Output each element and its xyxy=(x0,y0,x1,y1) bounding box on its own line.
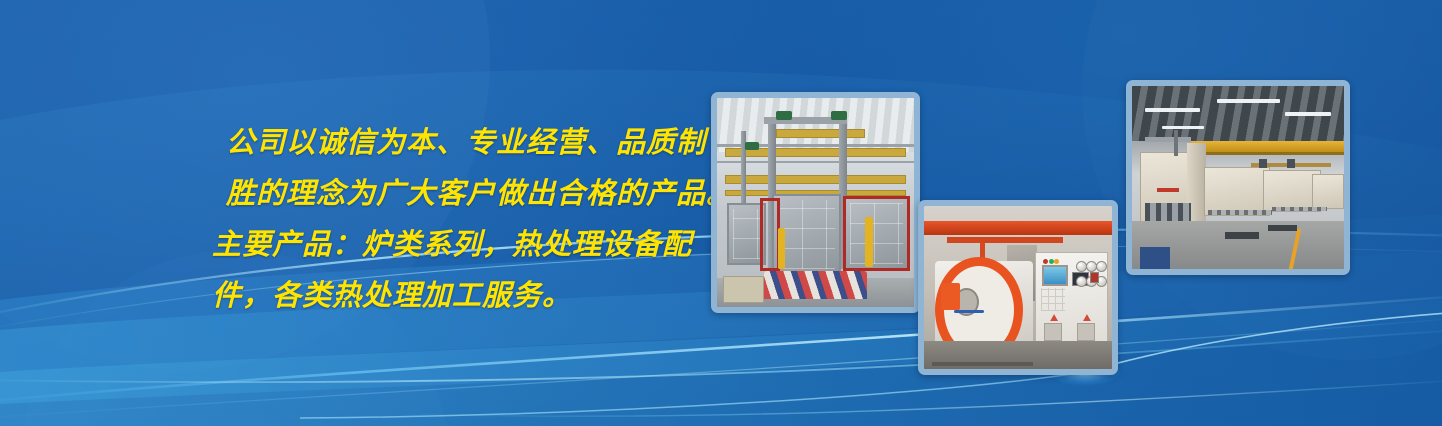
headline-line-1: 公司以诚信为本、专业经营、品质制 xyxy=(212,118,732,169)
headline-line-4: 件，各类热处理加工服务。 xyxy=(212,271,732,322)
photo-production-line[interactable] xyxy=(1126,80,1350,275)
photo-vacuum-furnace[interactable] xyxy=(918,200,1118,375)
headline-copy: 公司以诚信为本、专业经营、品质制 胜的理念为广大客户做出合格的产品。 主要产品：… xyxy=(212,118,732,322)
photo-furnace-bank[interactable] xyxy=(711,92,920,313)
vacuum-furnace-scene xyxy=(924,206,1112,369)
headline-line-3: 主要产品：炉类系列，热处理设备配 xyxy=(212,220,732,271)
company-banner: 公司以诚信为本、专业经营、品质制 胜的理念为广大客户做出合格的产品。 主要产品：… xyxy=(0,0,1442,426)
headline-line-2: 胜的理念为广大客户做出合格的产品。 xyxy=(212,169,732,220)
furnace-bank-scene xyxy=(717,98,914,307)
production-line-scene xyxy=(1132,86,1344,269)
